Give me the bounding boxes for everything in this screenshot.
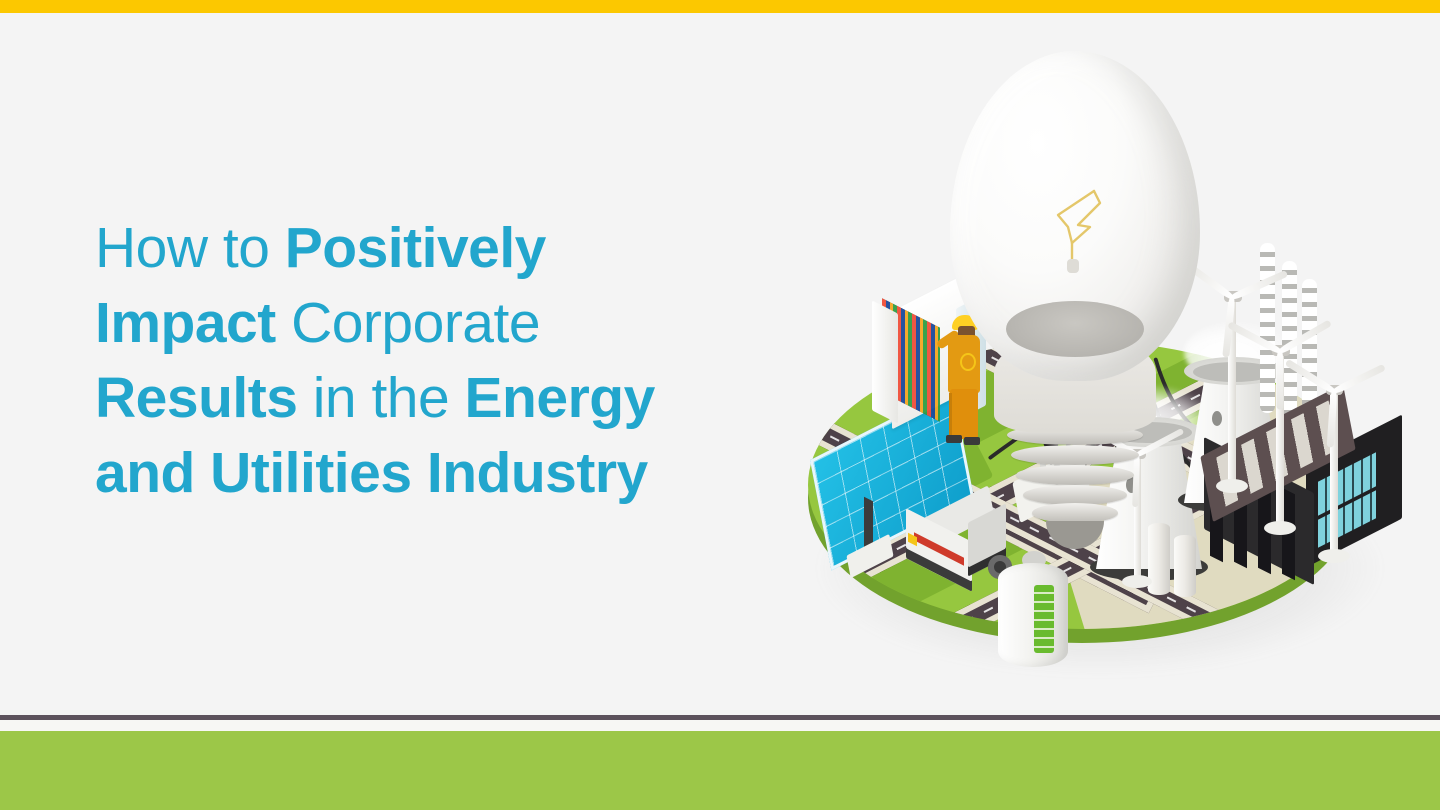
title-part-bold: Energy <box>465 366 655 430</box>
title-part-bold: Results <box>95 366 297 430</box>
battery-charge-level <box>1034 585 1054 653</box>
slide-root: How to Positively Impact Corporate Resul… <box>0 0 1440 810</box>
turbine-blade <box>1231 270 1289 301</box>
title-line-1: How to Positively <box>95 211 755 286</box>
page-title: How to Positively Impact Corporate Resul… <box>95 211 755 511</box>
turbine-blade <box>1227 321 1281 354</box>
bulb-filament <box>1038 185 1110 273</box>
slide-canvas: How to Positively Impact Corporate Resul… <box>0 13 1440 715</box>
turbine-blade <box>1332 364 1385 395</box>
title-line-2: Impact Corporate <box>95 286 755 361</box>
title-part: Corporate <box>276 291 540 355</box>
turbine-blade <box>1277 352 1284 410</box>
top-accent-bar <box>0 0 1440 13</box>
energy-city-illustration <box>790 23 1410 703</box>
title-line-3: Results in the Energy <box>95 361 755 436</box>
bulb-contact-tip <box>1046 521 1104 549</box>
turbine-blade <box>1285 359 1336 395</box>
light-bulb <box>930 33 1230 593</box>
footer-bar: Soft Expert Software for Performance Exc… <box>0 731 1440 810</box>
turbine-foot <box>1318 549 1350 563</box>
title-part-bold: and Utilities Industry <box>95 441 648 505</box>
title-part: How to <box>95 216 285 280</box>
title-part-bold: Impact <box>95 291 276 355</box>
title-part: in the <box>297 366 464 430</box>
cabinet-door-left <box>872 300 898 423</box>
footer-divider-gap <box>0 720 1440 731</box>
title-part-bold: Positively <box>285 216 546 280</box>
title-line-4: and Utilities Industry <box>95 436 755 511</box>
wind-turbine-3 <box>1286 343 1406 573</box>
bulb-inner-cavity <box>1006 301 1144 357</box>
